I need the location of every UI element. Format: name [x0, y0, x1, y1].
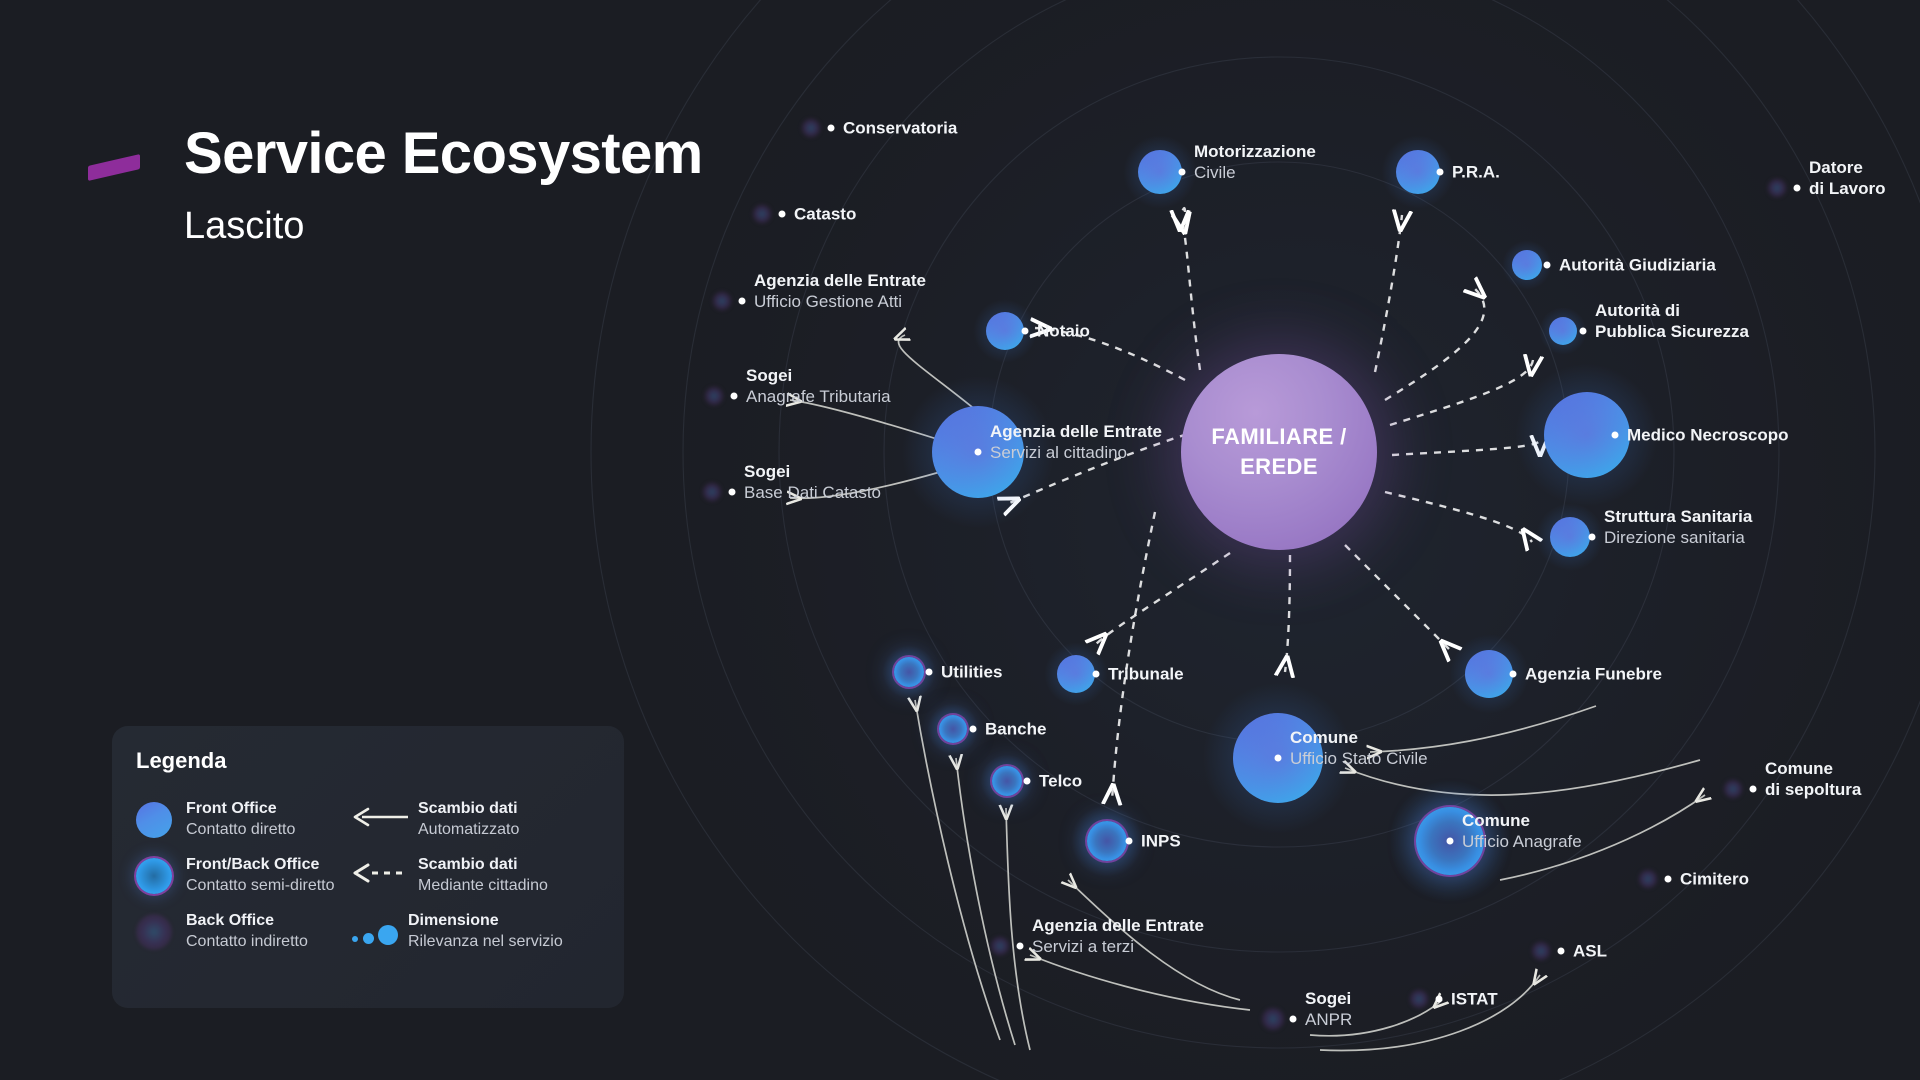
node-bubble-front [1512, 250, 1542, 280]
node-bubble-back [991, 937, 1009, 955]
node-label-primary: Datore [1809, 157, 1886, 178]
node-label-primary: ASL [1573, 941, 1607, 962]
node-label-primary: Comune [1765, 758, 1861, 779]
node-marker-dot [1022, 328, 1029, 335]
node-label-primary: P.R.A. [1452, 162, 1500, 183]
node-label-primary: Agenzia delle Entrate [754, 270, 926, 291]
node-label: ComuneUfficio Stato Civile [1290, 727, 1428, 769]
legend-item-name: Front Office [186, 798, 295, 819]
node-label-primary: Telco [1039, 771, 1082, 792]
node-label: Catasto [794, 204, 856, 225]
node-marker-dot [1750, 786, 1757, 793]
node-label-primary: Sogei [746, 365, 891, 386]
node-label: Agenzia Funebre [1525, 664, 1662, 685]
node-marker-dot [739, 298, 746, 305]
node-marker-dot [1126, 838, 1133, 845]
node-marker-dot [1510, 671, 1517, 678]
node-label: Autorità diPubblica Sicurezza [1595, 300, 1749, 342]
node-marker-dot [1017, 943, 1024, 950]
node-label: INPS [1141, 831, 1181, 852]
central-hub-familiare-erede[interactable]: FAMILIARE /EREDE [1181, 354, 1377, 550]
node-label-primary: Cimitero [1680, 869, 1749, 890]
node-label-primary: Conservatoria [843, 118, 957, 139]
legend-item-text: Front OfficeContatto diretto [186, 798, 295, 840]
legend-item-desc: Rilevanza nel servizio [408, 931, 563, 952]
node-label: Conservatoria [843, 118, 957, 139]
node-bubble-back [753, 205, 771, 223]
node-label: MotorizzazioneCivile [1194, 141, 1316, 183]
node-marker-dot [1580, 328, 1587, 335]
node-label-primary: ISTAT [1451, 989, 1498, 1010]
legend-size-dots-icon [352, 924, 398, 946]
legend-item-name: Scambio dati [418, 798, 519, 819]
node-label-primary: Medico Necroscopo [1627, 425, 1789, 446]
node-bubble-back [703, 483, 721, 501]
node-label: Medico Necroscopo [1627, 425, 1789, 446]
legend-arrow-dashed-icon [352, 862, 408, 884]
node-label: Struttura SanitariaDirezione sanitaria [1604, 506, 1752, 548]
legend-panel: Legenda Front OfficeContatto direttoFron… [112, 726, 624, 1008]
node-label-primary: Sogei [1305, 988, 1352, 1009]
node-label-secondary: di sepoltura [1765, 779, 1861, 800]
node-label: Agenzia delle EntrateServizi al cittadin… [990, 421, 1162, 463]
node-marker-dot [970, 726, 977, 733]
node-marker-dot [1544, 262, 1551, 269]
node-marker-dot [1024, 778, 1031, 785]
legend-arrow-solid-icon [352, 806, 408, 828]
node-label-secondary: Ufficio Gestione Atti [754, 291, 926, 312]
node-label-primary: Banche [985, 719, 1046, 740]
node-label-secondary: ANPR [1305, 1009, 1352, 1030]
node-marker-dot [731, 393, 738, 400]
node-label-primary: Catasto [794, 204, 856, 225]
node-label-primary: Autorità di [1595, 300, 1749, 321]
node-marker-dot [1589, 534, 1596, 541]
node-label: Autorità Giudiziaria [1559, 255, 1716, 276]
node-marker-dot [1179, 169, 1186, 176]
node-label: Tribunale [1108, 664, 1184, 685]
node-bubble-semi [939, 715, 967, 743]
legend-item-text: Front/Back OfficeContatto semi-diretto [186, 854, 335, 896]
node-label-primary: Comune [1290, 727, 1428, 748]
legend-item-desc: Contatto indiretto [186, 931, 308, 952]
node-bubble-front [1138, 150, 1182, 194]
node-label-primary: Comune [1462, 810, 1582, 831]
legend-item-text: Scambio datiAutomatizzato [418, 798, 519, 840]
legend-item-desc: Mediante cittadino [418, 875, 548, 896]
node-bubble-back [713, 292, 731, 310]
node-label-primary: Utilities [941, 662, 1002, 683]
legend-item-desc: Automatizzato [418, 819, 519, 840]
legend-item-text: Scambio datiMediante cittadino [418, 854, 548, 896]
node-label: P.R.A. [1452, 162, 1500, 183]
node-marker-dot [1093, 671, 1100, 678]
node-bubble-front [1057, 655, 1095, 693]
node-label-primary: Struttura Sanitaria [1604, 506, 1752, 527]
node-label: Telco [1039, 771, 1082, 792]
node-bubble-back [705, 387, 723, 405]
node-bubble-front [1550, 517, 1590, 557]
legend-item-desc: Contatto semi-diretto [186, 875, 335, 896]
node-label-secondary: Pubblica Sicurezza [1595, 321, 1749, 342]
page-title: Service Ecosystem [184, 120, 703, 187]
node-label: Cimitero [1680, 869, 1749, 890]
legend-item-text: Back OfficeContatto indiretto [186, 910, 308, 952]
node-label-primary: Agenzia delle Entrate [1032, 915, 1204, 936]
node-bubble-back [1262, 1008, 1284, 1030]
node-marker-dot [1447, 838, 1454, 845]
node-label-secondary: Base Dati Catasto [744, 482, 881, 503]
node-bubble-front [1396, 150, 1440, 194]
node-marker-dot [1436, 996, 1443, 1003]
legend-swatch-front-icon [136, 802, 172, 838]
node-bubble-back [1768, 179, 1786, 197]
legend-item-name: Back Office [186, 910, 308, 931]
node-bubble-back [1532, 942, 1550, 960]
node-label-primary: Motorizzazione [1194, 141, 1316, 162]
node-label-secondary: Servizi a terzi [1032, 936, 1204, 957]
node-label-secondary: di Lavoro [1809, 178, 1886, 199]
node-label-primary: Sogei [744, 461, 881, 482]
legend-item-name: Scambio dati [418, 854, 548, 875]
node-marker-dot [828, 125, 835, 132]
legend-item-name: Dimensione [408, 910, 563, 931]
node-marker-dot [779, 211, 786, 218]
node-label-secondary: Civile [1194, 162, 1316, 183]
node-bubble-back [1724, 780, 1742, 798]
node-label-secondary: Direzione sanitaria [1604, 527, 1752, 548]
node-label-secondary: Anagrafe Tributaria [746, 386, 891, 407]
node-bubble-back [1410, 990, 1428, 1008]
legend-title: Legenda [136, 748, 226, 774]
node-marker-dot [1437, 169, 1444, 176]
node-bubble-front [1549, 317, 1577, 345]
node-label: SogeiAnagrafe Tributaria [746, 365, 891, 407]
node-bubble-semi [992, 766, 1022, 796]
legend-item-name: Front/Back Office [186, 854, 335, 875]
node-marker-dot [1558, 948, 1565, 955]
node-label-secondary: Ufficio Anagrafe [1462, 831, 1582, 852]
node-bubble-front [1465, 650, 1513, 698]
node-label: Comunedi sepoltura [1765, 758, 1861, 800]
node-marker-dot [1275, 755, 1282, 762]
node-label-primary: Tribunale [1108, 664, 1184, 685]
ecosystem-diagram: Service Ecosystem Lascito FAMILIARE /ERE… [0, 0, 1920, 1080]
node-marker-dot [975, 449, 982, 456]
node-label: Banche [985, 719, 1046, 740]
node-label-primary: Agenzia Funebre [1525, 664, 1662, 685]
node-marker-dot [926, 669, 933, 676]
node-label: Datoredi Lavoro [1809, 157, 1886, 199]
node-bubble-front [986, 312, 1024, 350]
node-label: Utilities [941, 662, 1002, 683]
legend-swatch-semi-icon [136, 858, 172, 894]
node-label: ISTAT [1451, 989, 1498, 1010]
node-bubble-semi [894, 657, 924, 687]
node-label: SogeiBase Dati Catasto [744, 461, 881, 503]
node-label-secondary: Ufficio Stato Civile [1290, 748, 1428, 769]
node-label: Notaio [1037, 321, 1090, 342]
node-label-primary: Agenzia delle Entrate [990, 421, 1162, 442]
node-marker-dot [1612, 432, 1619, 439]
node-label-secondary: Servizi al cittadino [990, 442, 1162, 463]
node-bubble-semi [1087, 821, 1127, 861]
node-label: SogeiANPR [1305, 988, 1352, 1030]
node-label: ComuneUfficio Anagrafe [1462, 810, 1582, 852]
node-label: ASL [1573, 941, 1607, 962]
node-label: Agenzia delle EntrateUfficio Gestione At… [754, 270, 926, 312]
node-bubble-back [1639, 870, 1657, 888]
node-label-primary: INPS [1141, 831, 1181, 852]
node-marker-dot [729, 489, 736, 496]
hub-label: FAMILIARE /EREDE [1211, 422, 1346, 482]
node-label-primary: Autorità Giudiziaria [1559, 255, 1716, 276]
legend-item-desc: Contatto diretto [186, 819, 295, 840]
node-label-primary: Notaio [1037, 321, 1090, 342]
legend-swatch-back-icon [136, 914, 172, 950]
node-marker-dot [1290, 1016, 1297, 1023]
legend-item-text: DimensioneRilevanza nel servizio [408, 910, 563, 952]
node-marker-dot [1665, 876, 1672, 883]
page-subtitle: Lascito [184, 205, 304, 248]
node-marker-dot [1794, 185, 1801, 192]
node-label: Agenzia delle EntrateServizi a terzi [1032, 915, 1204, 957]
node-bubble-back [802, 119, 820, 137]
